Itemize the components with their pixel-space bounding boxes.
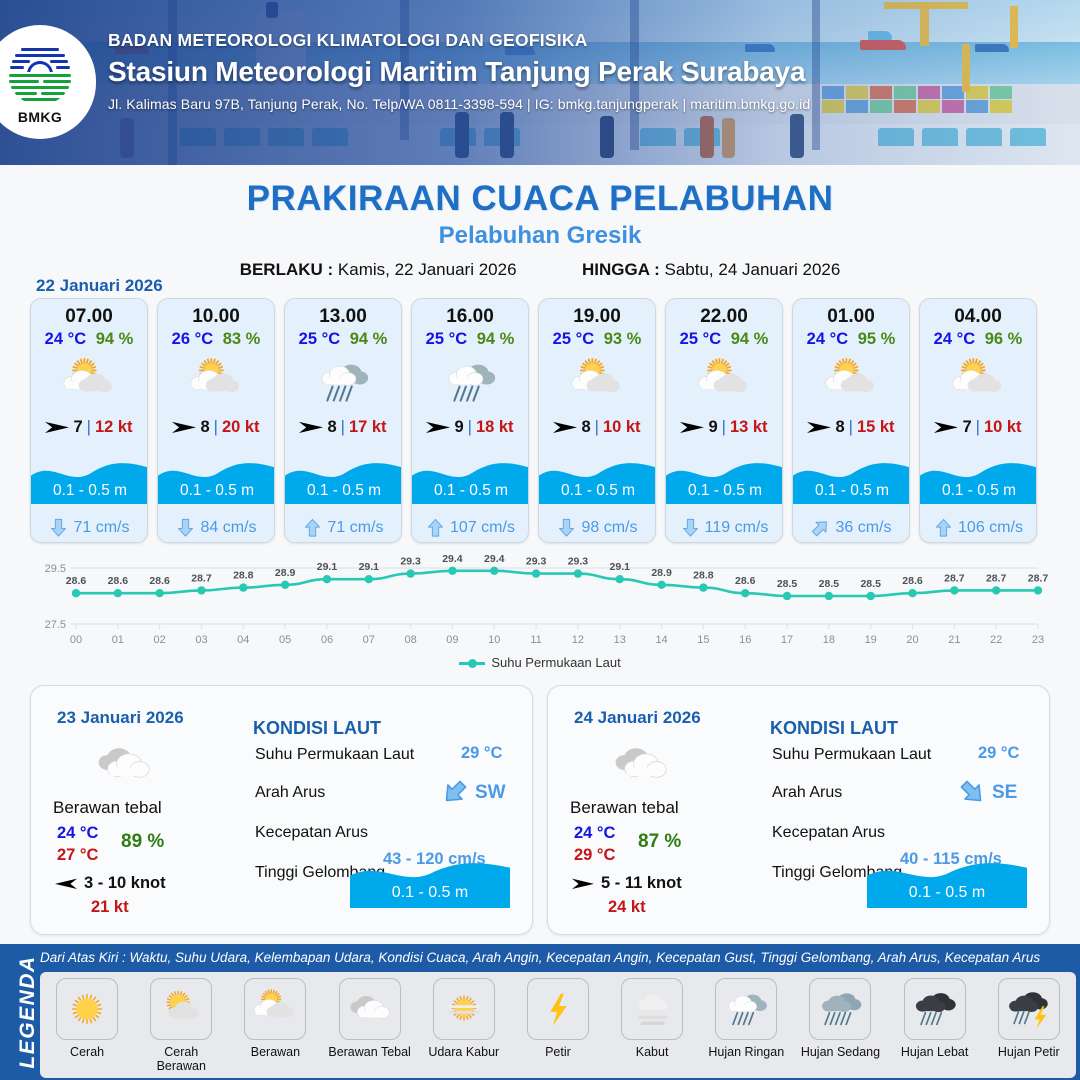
legend-icon-berawan-tebal: [339, 978, 401, 1040]
svg-text:28.7: 28.7: [986, 572, 1007, 584]
card-wave-graphic: 0.1 - 0.5 m: [31, 452, 148, 504]
legend-caption: Kabut: [609, 1045, 695, 1059]
svg-text:28.9: 28.9: [651, 567, 672, 579]
card-humidity: 94 %: [350, 330, 388, 348]
bmkg-logo-text: BMKG: [3, 109, 77, 125]
svg-text:28.9: 28.9: [275, 567, 296, 579]
svg-text:28.7: 28.7: [944, 572, 965, 584]
legend-caption: Berawan Tebal: [327, 1045, 413, 1059]
card-wave-graphic: 0.1 - 0.5 m: [793, 452, 910, 504]
card-wave-height: 0.1 - 0.5 m: [793, 482, 910, 500]
panel-temp-max: 27 °C: [57, 846, 98, 865]
panel-wind-arrow-icon: [572, 877, 594, 891]
legend-caption: Hujan Petir: [986, 1045, 1072, 1059]
contact-info: Jl. Kalimas Baru 97B, Tanjung Perak, No.…: [108, 96, 810, 112]
panel-weather-icon: [93, 734, 155, 796]
svg-text:14: 14: [655, 634, 667, 646]
panel-wave-graphic: 0.1 - 0.5 m: [867, 850, 1027, 908]
svg-text:09: 09: [446, 634, 458, 646]
legend-caption: Hujan Lebat: [892, 1045, 978, 1059]
current-direction-arrow-icon: [427, 518, 444, 538]
panel-current-dir-value: SW: [475, 782, 506, 804]
legend-caption: Cerah: [44, 1045, 130, 1059]
current-direction-arrow-icon: [812, 518, 829, 538]
panel-current-dir-value: SE: [992, 782, 1017, 804]
svg-text:20: 20: [906, 634, 918, 646]
card-time: 01.00: [793, 306, 909, 328]
panel-condition: Berawan tebal: [53, 798, 162, 818]
panel-gust: 21 kt: [91, 898, 129, 917]
legend-item: Hujan Ringan: [703, 978, 789, 1059]
daily-forecast-panels: 23 Januari 2026 Berawan tebal 24 °C 27 °…: [30, 685, 1050, 935]
panel-current-dir-arrow-icon: [441, 778, 469, 806]
panel-sst-label: Suhu Permukaan Laut: [772, 746, 931, 764]
card-separator: |: [468, 418, 472, 437]
legend-caption: Berawan: [232, 1045, 318, 1059]
card-current-speed: 84 cm/s: [200, 519, 256, 537]
legend-note: Dari Atas Kiri : Waktu, Suhu Udara, Kele…: [40, 950, 1076, 965]
card-wind-speed: 8: [835, 418, 844, 437]
card-current-speed: 36 cm/s: [835, 519, 891, 537]
panel-gust: 24 kt: [608, 898, 646, 917]
legend-caption: Petir: [515, 1045, 601, 1059]
panel-wind-arrow-icon: [55, 877, 77, 891]
panel-humidity: 87 %: [638, 831, 681, 853]
svg-text:01: 01: [112, 634, 124, 646]
card-wave-height: 0.1 - 0.5 m: [158, 482, 275, 500]
legend-icon-cerah-berawan: [150, 978, 212, 1040]
forecast-card: 07.00 24 °C 94 % 7 | 12 kt 0.1 - 0.5 m: [30, 298, 148, 543]
svg-text:19: 19: [865, 634, 877, 646]
card-humidity: 94 %: [96, 330, 134, 348]
panel-wind: 3 - 10 knot: [55, 874, 166, 893]
legend-icon-udara-kabur: [433, 978, 495, 1040]
wind-direction-arrow-icon: [807, 420, 831, 435]
panel-current-dir-label: Arah Arus: [255, 784, 325, 802]
card-time: 22.00: [666, 306, 782, 328]
svg-text:06: 06: [321, 634, 333, 646]
card-separator: |: [341, 418, 345, 437]
svg-text:07: 07: [363, 634, 375, 646]
card-humidity: 93 %: [604, 330, 642, 348]
svg-text:29.4: 29.4: [484, 553, 505, 565]
card-current-speed: 71 cm/s: [327, 519, 383, 537]
card-wind-speed: 7: [73, 418, 82, 437]
svg-text:27.5: 27.5: [45, 619, 66, 631]
legend-caption: Udara Kabur: [421, 1045, 507, 1059]
card-humidity: 94 %: [477, 330, 515, 348]
valid-from-value: Kamis, 22 Januari 2026: [338, 260, 517, 279]
panel-current-speed-label: Kecepatan Arus: [255, 824, 368, 842]
card-time: 07.00: [31, 306, 147, 328]
card-separator: |: [849, 418, 853, 437]
card-separator: |: [214, 418, 218, 437]
card-separator: |: [976, 418, 980, 437]
current-direction-arrow-icon: [50, 518, 67, 538]
card-separator: |: [595, 418, 599, 437]
svg-text:28.7: 28.7: [1028, 572, 1049, 584]
valid-until-value: Sabtu, 24 Januari 2026: [665, 260, 841, 279]
card-wind-speed: 8: [200, 418, 209, 437]
card-wind-speed: 8: [581, 418, 590, 437]
card-gust: 10 kt: [984, 418, 1022, 437]
card-wave-height: 0.1 - 0.5 m: [920, 482, 1037, 500]
legend-marker-icon: [459, 662, 485, 665]
card-wave-height: 0.1 - 0.5 m: [285, 482, 402, 500]
card-gust: 18 kt: [476, 418, 514, 437]
wind-direction-arrow-icon: [553, 420, 577, 435]
panel-sea-title: KONDISI LAUT: [253, 718, 381, 739]
card-wave-graphic: 0.1 - 0.5 m: [285, 452, 402, 504]
svg-text:00: 00: [70, 634, 82, 646]
legend-icon-hujan-sedang: [809, 978, 871, 1040]
card-weather-icon: [920, 352, 1036, 412]
org-name: BADAN METEOROLOGI KLIMATOLOGI DAN GEOFIS…: [108, 30, 810, 51]
forecast-card: 01.00 24 °C 95 % 8 | 15 kt 0.1 - 0.5 m: [792, 298, 910, 543]
panel-weather-icon: [610, 734, 672, 796]
card-time: 13.00: [285, 306, 401, 328]
legend-item: Petir: [515, 978, 601, 1059]
page-title-block: PRAKIRAAN CUACA PELABUHAN Pelabuhan Gres…: [0, 179, 1080, 280]
svg-text:29.3: 29.3: [400, 556, 421, 568]
svg-text:23: 23: [1032, 634, 1044, 646]
svg-text:21: 21: [948, 634, 960, 646]
wind-direction-arrow-icon: [172, 420, 196, 435]
card-gust: 17 kt: [349, 418, 387, 437]
card-current-speed: 98 cm/s: [581, 519, 637, 537]
svg-text:28.7: 28.7: [191, 572, 212, 584]
svg-text:16: 16: [739, 634, 751, 646]
svg-text:28.6: 28.6: [902, 575, 923, 587]
card-gust: 15 kt: [857, 418, 895, 437]
svg-text:13: 13: [614, 634, 626, 646]
legend-item: Hujan Lebat: [892, 978, 978, 1059]
svg-text:29.4: 29.4: [442, 553, 463, 565]
svg-text:29.1: 29.1: [317, 561, 338, 573]
legend-item: Udara Kabur: [421, 978, 507, 1059]
current-direction-arrow-icon: [558, 518, 575, 538]
card-humidity: 94 %: [731, 330, 769, 348]
svg-text:02: 02: [154, 634, 166, 646]
svg-text:29.5: 29.5: [45, 563, 66, 575]
valid-until-label: HINGGA :: [582, 260, 660, 279]
panel-date: 24 Januari 2026: [574, 708, 701, 728]
hourly-forecast-list: 07.00 24 °C 94 % 7 | 12 kt 0.1 - 0.5 m: [30, 298, 1050, 543]
card-time: 19.00: [539, 306, 655, 328]
card-humidity: 96 %: [985, 330, 1023, 348]
legend-panel: Cerah Cerah Berawan Berawan: [40, 972, 1076, 1078]
svg-text:28.5: 28.5: [777, 578, 798, 590]
card-wave-graphic: 0.1 - 0.5 m: [158, 452, 275, 504]
card-wave-graphic: 0.1 - 0.5 m: [412, 452, 529, 504]
svg-text:28.6: 28.6: [149, 575, 170, 587]
card-wave-height: 0.1 - 0.5 m: [31, 482, 148, 500]
card-weather-icon: [31, 352, 147, 412]
panel-wind-speed: 3 - 10 knot: [84, 874, 166, 893]
card-current-speed: 119 cm/s: [705, 519, 769, 537]
svg-text:28.8: 28.8: [693, 570, 714, 582]
svg-text:29.1: 29.1: [610, 561, 631, 573]
card-humidity: 95 %: [858, 330, 896, 348]
legend-item: Hujan Petir: [986, 978, 1072, 1059]
wind-direction-arrow-icon: [299, 420, 323, 435]
card-temperature: 25 °C: [553, 330, 594, 348]
card-gust: 12 kt: [95, 418, 133, 437]
current-direction-arrow-icon: [935, 518, 952, 538]
svg-text:28.6: 28.6: [735, 575, 756, 587]
panel-wave-value: 0.1 - 0.5 m: [867, 884, 1027, 902]
current-direction-arrow-icon: [682, 518, 699, 538]
current-direction-arrow-icon: [304, 518, 321, 538]
svg-text:28.8: 28.8: [233, 570, 254, 582]
panel-temp-min: 24 °C: [57, 824, 98, 843]
card-wave-graphic: 0.1 - 0.5 m: [666, 452, 783, 504]
wind-direction-arrow-icon: [426, 420, 450, 435]
card-gust: 20 kt: [222, 418, 260, 437]
svg-text:17: 17: [781, 634, 793, 646]
bmkg-emblem-icon: [7, 39, 73, 105]
card-wave-height: 0.1 - 0.5 m: [539, 482, 656, 500]
forecast-card: 16.00 25 °C 94 % 9 | 18 kt 0.1 - 0.5 m: [411, 298, 529, 543]
legend-icon-hujan-ringan: [715, 978, 777, 1040]
legend-item: Cerah Berawan: [138, 978, 224, 1073]
card-temperature: 25 °C: [426, 330, 467, 348]
svg-text:04: 04: [237, 634, 249, 646]
card-current-speed: 71 cm/s: [73, 519, 129, 537]
card-weather-icon: [539, 352, 655, 412]
card-current-speed: 106 cm/s: [958, 519, 1023, 537]
svg-text:03: 03: [195, 634, 207, 646]
svg-text:12: 12: [572, 634, 584, 646]
card-separator: |: [722, 418, 726, 437]
legend-icon-kabut: [621, 978, 683, 1040]
card-weather-icon: [158, 352, 274, 412]
svg-text:28.5: 28.5: [819, 578, 840, 590]
svg-text:10: 10: [488, 634, 500, 646]
card-wind-speed: 9: [708, 418, 717, 437]
svg-text:28.6: 28.6: [66, 575, 87, 587]
card-wave-height: 0.1 - 0.5 m: [666, 482, 783, 500]
card-wind-speed: 7: [962, 418, 971, 437]
forecast-card: 19.00 25 °C 93 % 8 | 10 kt 0.1 - 0.5 m: [538, 298, 656, 543]
card-weather-icon: [412, 352, 528, 412]
card-wave-graphic: 0.1 - 0.5 m: [539, 452, 656, 504]
card-time: 16.00: [412, 306, 528, 328]
panel-condition: Berawan tebal: [570, 798, 679, 818]
card-time: 04.00: [920, 306, 1036, 328]
svg-text:18: 18: [823, 634, 835, 646]
wind-direction-arrow-icon: [45, 420, 69, 435]
panel-wave-graphic: 0.1 - 0.5 m: [350, 850, 510, 908]
card-wind-speed: 9: [454, 418, 463, 437]
legend-section: LEGENDA Dari Atas Kiri : Waktu, Suhu Uda…: [0, 944, 1080, 1080]
panel-current-dir-label: Arah Arus: [772, 784, 842, 802]
svg-text:11: 11: [530, 634, 541, 646]
wind-direction-arrow-icon: [680, 420, 704, 435]
card-weather-icon: [666, 352, 782, 412]
card-wind-speed: 8: [327, 418, 336, 437]
svg-text:05: 05: [279, 634, 291, 646]
forecast-card: 22.00 25 °C 94 % 9 | 13 kt 0.1 - 0.5 m: [665, 298, 783, 543]
card-weather-icon: [285, 352, 401, 412]
forecast-card: 13.00 25 °C 94 % 8 | 17 kt 0.1 - 0.5 m: [284, 298, 402, 543]
svg-text:28.6: 28.6: [108, 575, 129, 587]
legend-icon-hujan-petir: [998, 978, 1060, 1040]
page-subtitle: Pelabuhan Gresik: [0, 222, 1080, 250]
panel-current-dir-arrow-icon: [958, 778, 986, 806]
card-temperature: 24 °C: [934, 330, 975, 348]
card-gust: 13 kt: [730, 418, 768, 437]
svg-text:29.3: 29.3: [526, 556, 547, 568]
card-separator: |: [87, 418, 91, 437]
panel-sst-value: 29 °C: [978, 744, 1019, 763]
panel-temp-min: 24 °C: [574, 824, 615, 843]
page-title: PRAKIRAAN CUACA PELABUHAN: [0, 179, 1080, 219]
legend-item: Hujan Sedang: [797, 978, 883, 1059]
panel-wind: 5 - 11 knot: [572, 874, 682, 893]
legend-caption: Hujan Ringan: [703, 1045, 789, 1059]
legend-item: Kabut: [609, 978, 695, 1059]
legend-icon-cerah: [56, 978, 118, 1040]
card-humidity: 83 %: [223, 330, 261, 348]
panel-temp-max: 29 °C: [574, 846, 615, 865]
card-time: 10.00: [158, 306, 274, 328]
svg-text:08: 08: [404, 634, 416, 646]
station-name: Stasiun Meteorologi Maritim Tanjung Pera…: [108, 56, 810, 88]
forecast-card: 04.00 24 °C 96 % 7 | 10 kt 0.1 - 0.5 m: [919, 298, 1037, 543]
card-gust: 10 kt: [603, 418, 641, 437]
svg-text:28.5: 28.5: [860, 578, 881, 590]
card-temperature: 24 °C: [807, 330, 848, 348]
panel-wave-value: 0.1 - 0.5 m: [350, 884, 510, 902]
panel-date: 23 Januari 2026: [57, 708, 184, 728]
svg-text:22: 22: [990, 634, 1002, 646]
page-header: BMKG BADAN METEOROLOGI KLIMATOLOGI DAN G…: [0, 0, 1080, 165]
card-weather-icon: [793, 352, 909, 412]
current-direction-arrow-icon: [177, 518, 194, 538]
forecast-card: 10.00 26 °C 83 % 8 | 20 kt 0.1 - 0.5 m: [157, 298, 275, 543]
legend-item: Cerah: [44, 978, 130, 1059]
daily-forecast-panel: 23 Januari 2026 Berawan tebal 24 °C 27 °…: [30, 685, 533, 935]
sst-chart: 29.527.500010203040506070809101112131415…: [28, 556, 1052, 648]
card-temperature: 25 °C: [680, 330, 721, 348]
daily-forecast-panel: 24 Januari 2026 Berawan tebal 24 °C 29 °…: [547, 685, 1050, 935]
legend-item: Berawan: [232, 978, 318, 1059]
legend-icon-hujan-lebat: [904, 978, 966, 1040]
legend-icon-berawan: [244, 978, 306, 1040]
legend-caption: Hujan Sedang: [797, 1045, 883, 1059]
svg-text:29.1: 29.1: [359, 561, 380, 573]
chart-legend: Suhu Permukaan Laut: [0, 655, 1080, 670]
card-temperature: 26 °C: [172, 330, 213, 348]
svg-text:15: 15: [697, 634, 709, 646]
legend-item: Berawan Tebal: [327, 978, 413, 1059]
panel-wind-speed: 5 - 11 knot: [601, 874, 682, 893]
legend-icon-petir: [527, 978, 589, 1040]
card-wave-height: 0.1 - 0.5 m: [412, 482, 529, 500]
card-current-speed: 107 cm/s: [450, 519, 515, 537]
card-wave-graphic: 0.1 - 0.5 m: [920, 452, 1037, 504]
legend-caption: Cerah Berawan: [138, 1045, 224, 1073]
panel-sst-label: Suhu Permukaan Laut: [255, 746, 414, 764]
card-temperature: 25 °C: [299, 330, 340, 348]
panel-sea-title: KONDISI LAUT: [770, 718, 898, 739]
forecast-date-label: 22 Januari 2026: [36, 276, 163, 296]
legend-label: Suhu Permukaan Laut: [491, 655, 620, 670]
wind-direction-arrow-icon: [934, 420, 958, 435]
panel-current-speed-label: Kecepatan Arus: [772, 824, 885, 842]
valid-from-label: BERLAKU :: [240, 260, 334, 279]
card-temperature: 24 °C: [45, 330, 86, 348]
panel-sst-value: 29 °C: [461, 744, 502, 763]
svg-text:29.3: 29.3: [568, 556, 589, 568]
panel-humidity: 89 %: [121, 831, 164, 853]
